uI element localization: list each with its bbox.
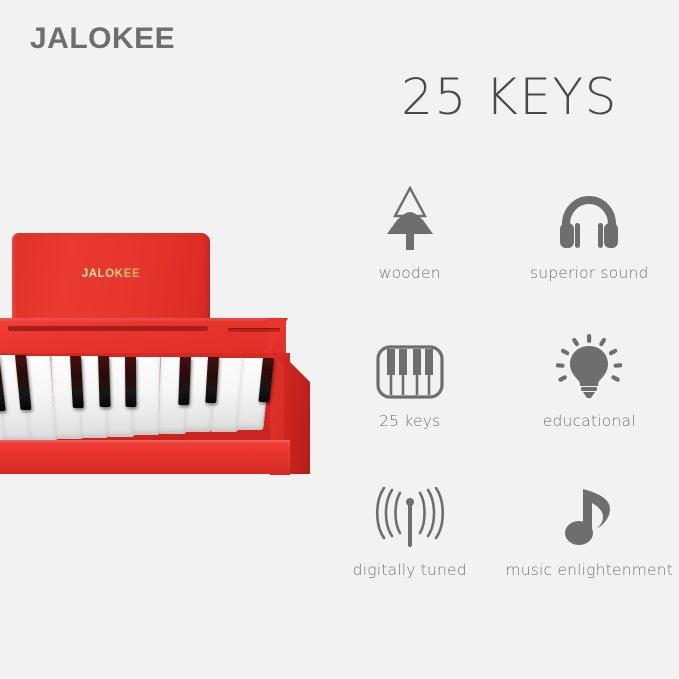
piano-front-panel [0, 440, 290, 474]
feature-music-enlightenment: music enlightenment [500, 457, 679, 605]
antenna-signal-icon [371, 483, 449, 549]
product-image-toy-piano: JALOKEE JALOKEE [0, 225, 320, 515]
piano-keys-icon [375, 334, 445, 400]
feature-grid: wooden superior sound [320, 160, 679, 605]
piano-top-deck [0, 318, 286, 356]
feature-educational: educational [500, 308, 679, 456]
brand-logo: JALOKEE [30, 22, 175, 56]
piano-top-deck-bevel [268, 318, 288, 356]
piano-deck-slot [228, 328, 280, 332]
feature-25-keys: 25 keys [320, 308, 500, 456]
product-feature-infographic: JALOKEE 25 KEYS JALOKEE JALOKEE [0, 0, 679, 679]
piano-keybed [0, 353, 290, 451]
headphones-icon [554, 186, 624, 252]
feature-label: superior sound [530, 264, 649, 282]
piano-black-key [179, 357, 192, 405]
feature-wooden: wooden [320, 160, 500, 308]
feature-label: 25 keys [379, 412, 440, 430]
piano-black-key [98, 356, 111, 407]
music-note-icon [559, 483, 619, 549]
piano-stand-logo: JALOKEE [82, 268, 141, 280]
feature-superior-sound: superior sound [500, 160, 679, 308]
pine-tree-icon [379, 186, 441, 252]
piano-black-key [125, 357, 136, 407]
feature-label: educational [543, 412, 636, 430]
lightbulb-icon [556, 334, 622, 400]
page-title: 25 KEYS [340, 68, 679, 126]
feature-label: wooden [379, 264, 441, 282]
feature-label: digitally tuned [353, 561, 467, 579]
piano-music-stand: JALOKEE JALOKEE [12, 233, 210, 331]
piano-stand-slot [8, 326, 208, 331]
piano-keys [0, 353, 282, 445]
feature-digitally-tuned: digitally tuned [320, 457, 500, 605]
feature-label: music enlightenment [505, 561, 673, 579]
